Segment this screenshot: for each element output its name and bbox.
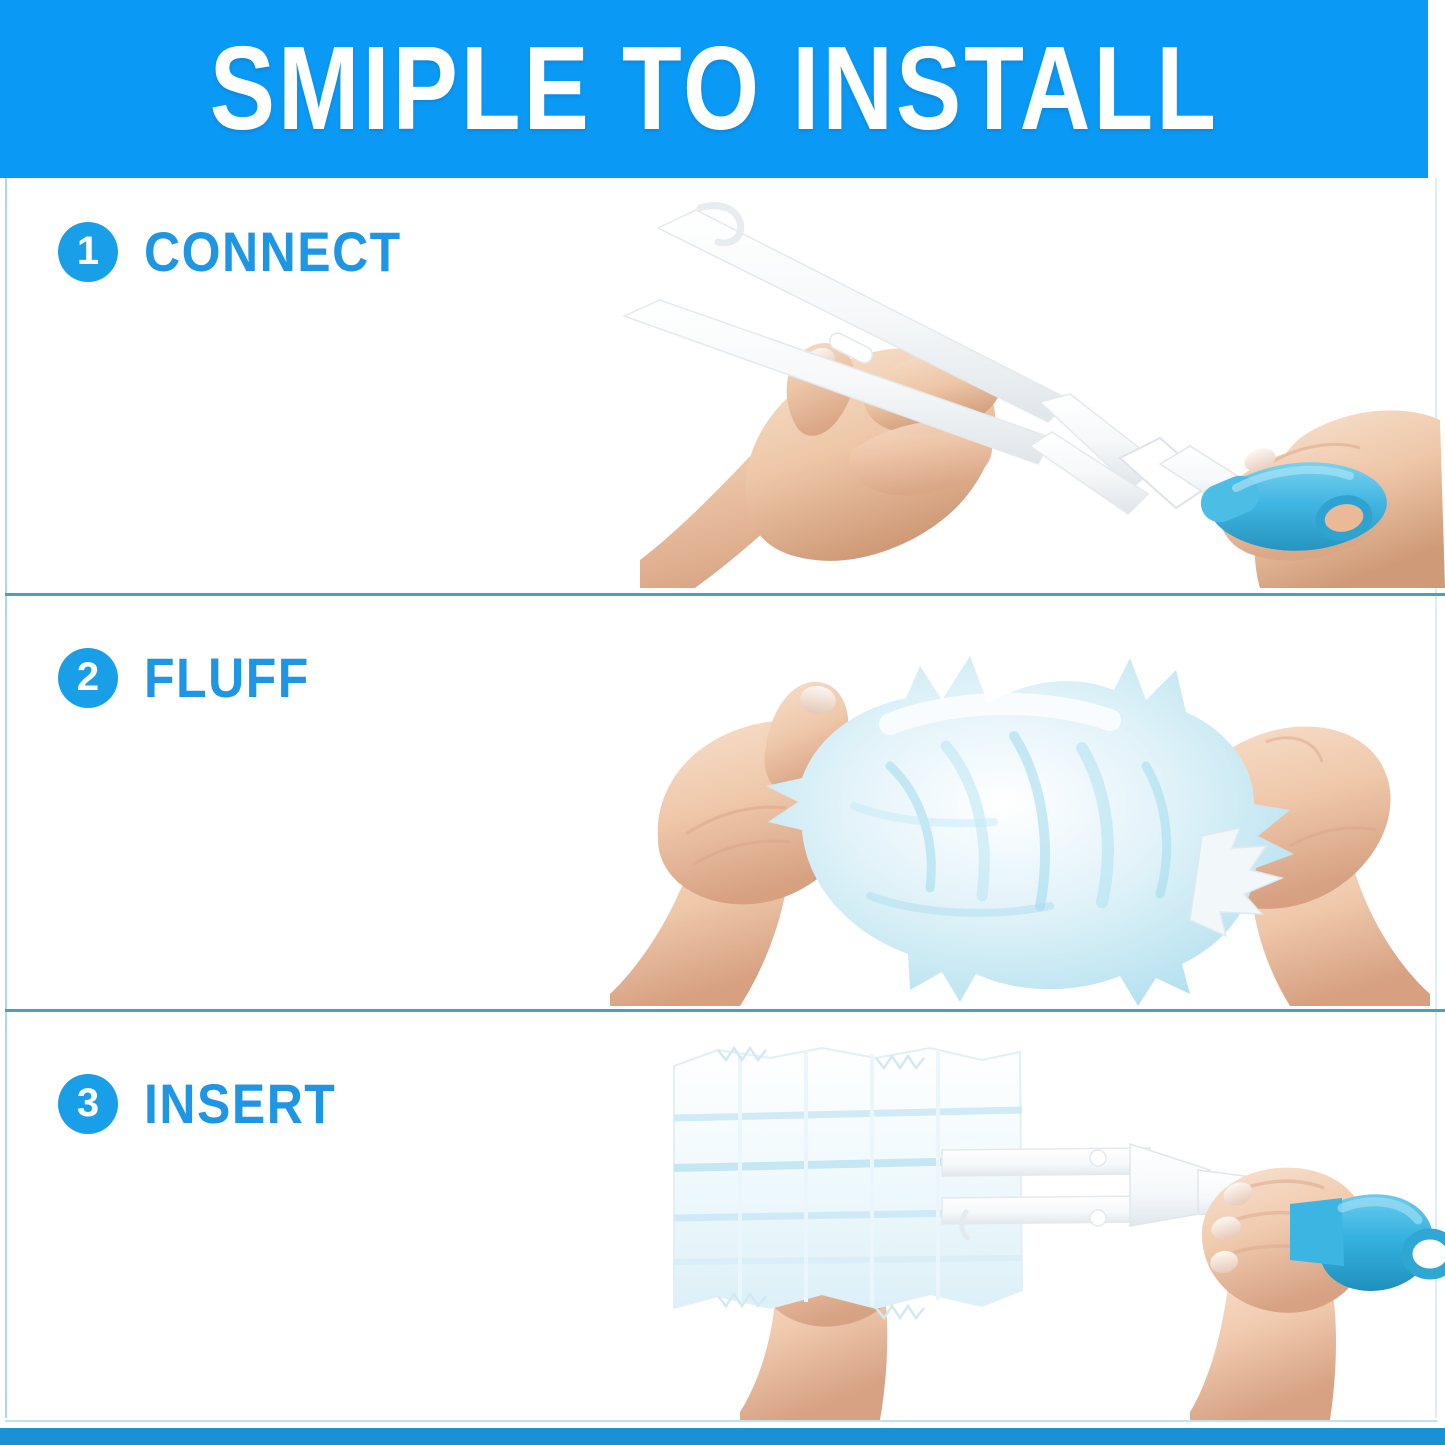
duster-refill-pad [674,1048,1022,1318]
step-panel-1: 1 CONNECT [0,178,1445,593]
insert-illustration [590,1022,1445,1420]
step-1-photo [600,188,1445,588]
step-panel-3: 3 INSERT [0,1012,1445,1420]
step-2-label: FLUFF [144,646,310,711]
step-3-number-badge: 3 [58,1074,118,1134]
step-panel-2: 2 FLUFF [0,596,1445,1009]
page-title: SMIPLE TO INSTALL [209,29,1218,148]
step-1-number-badge: 1 [58,222,118,282]
step-2-number-badge: 2 [58,648,118,708]
step-3-photo [590,1022,1445,1420]
connect-illustration [600,188,1445,588]
fluff-illustration [590,596,1445,1006]
step-1-label: CONNECT [144,220,402,285]
bottom-accent-bar [0,1428,1445,1445]
step-1-label-group: 1 CONNECT [58,222,402,282]
step-3-label: INSERT [144,1072,336,1137]
header-banner: SMIPLE TO INSTALL [0,0,1428,178]
step-3-label-group: 3 INSERT [58,1074,336,1134]
step-2-photo [590,596,1445,1006]
bottom-hairline [5,1420,1437,1422]
step-2-label-group: 2 FLUFF [58,648,310,708]
install-instructions-infographic: SMIPLE TO INSTALL 1 CONNECT [0,0,1445,1445]
